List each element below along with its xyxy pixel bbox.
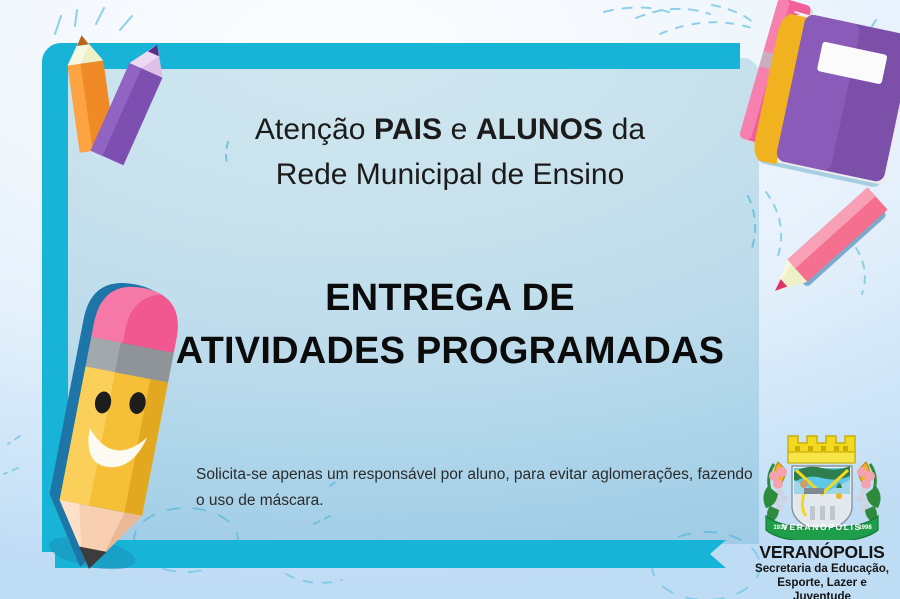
headline-bold-pais: PAIS [374, 113, 442, 146]
headline-text-3: da [603, 113, 645, 146]
municipal-logo: VERANOPOLIS 1931 1998 VERANÓPOLIS Secret… [748, 428, 896, 596]
poster-canvas: Atenção PAIS e ALUNOS da Rede Municipal … [0, 0, 900, 599]
crown-icon [788, 436, 855, 463]
headline-bold-alunos: ALUNOS [476, 113, 603, 146]
grapes-left-icon [763, 467, 788, 522]
note-text: Solicita-se apenas um responsável por al… [196, 462, 756, 514]
logo-department: Secretaria da Educação, Esporte, Lazer e… [748, 562, 896, 599]
headline-line-2: Rede Municipal de Ensino [0, 158, 900, 192]
headline-text-2: e [442, 113, 476, 146]
title-line-2: ATIVIDADES PROGRAMADAS [0, 330, 900, 373]
grapes-right-icon [856, 467, 881, 522]
crest-year-left: 1931 [773, 525, 787, 531]
veranopolis-coat-of-arms-icon: VERANOPOLIS 1931 1998 [748, 428, 896, 540]
headline-text-1: Atenção [255, 113, 374, 146]
logo-department-line-2: Esporte, Lazer e Juventude [748, 576, 896, 599]
crest-motto-text: VERANOPOLIS [782, 522, 861, 532]
crest-year-right: 1998 [858, 525, 872, 531]
logo-city-name: VERANÓPOLIS [748, 542, 896, 563]
title-line-1: ENTREGA DE [0, 277, 900, 320]
headline-line-1: Atenção PAIS e ALUNOS da [0, 113, 900, 147]
logo-department-line-1: Secretaria da Educação, [748, 562, 896, 576]
